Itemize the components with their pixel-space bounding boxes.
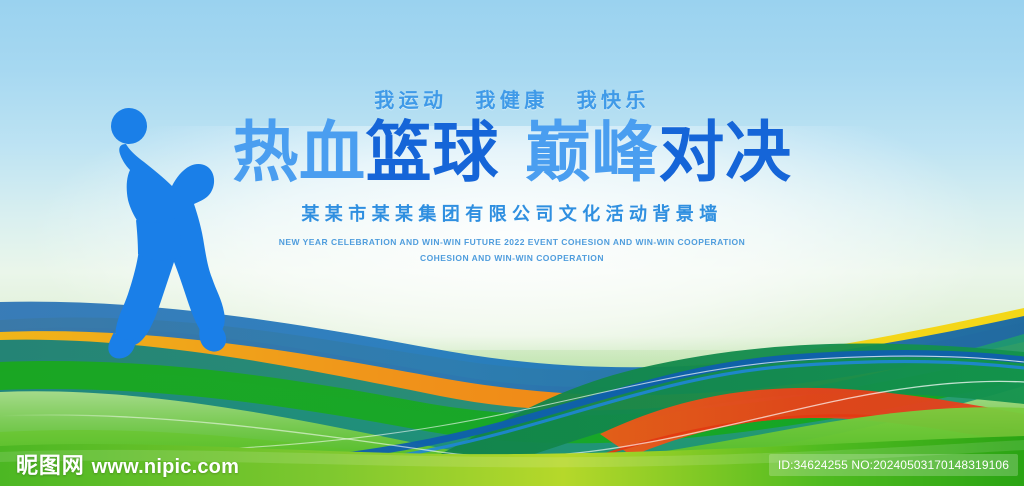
subtitle-chinese: 某某市某某集团有限公司文化活动背景墙 xyxy=(0,200,1024,226)
poster-copy: 我运动我健康我快乐 热血篮球巅峰对决 某某市某某集团有限公司文化活动背景墙 NE… xyxy=(0,84,1024,267)
status-badge: ID:34624255 NO:20240503170148319106 xyxy=(769,454,1018,476)
subtitle-english-line-2: COHESION AND WIN-WIN COOPERATION xyxy=(0,251,1024,267)
tagline-item-1: 我健康 xyxy=(475,90,548,112)
subtitle-english-line-1: NEW YEAR CELEBRATION AND WIN-WIN FUTURE … xyxy=(0,235,1024,251)
page-title: 热血篮球巅峰对决 xyxy=(0,119,1024,186)
poster-banner: 我运动我健康我快乐 热血篮球巅峰对决 某某市某某集团有限公司文化活动背景墙 NE… xyxy=(0,0,1024,486)
subtitle-english: NEW YEAR CELEBRATION AND WIN-WIN FUTURE … xyxy=(0,235,1024,266)
tagline: 我运动我健康我快乐 xyxy=(0,84,1024,113)
headline-part2-dark: 对决 xyxy=(658,115,791,189)
headline-part1-light: 热血 xyxy=(232,115,365,189)
tagline-item-0: 我运动 xyxy=(374,90,447,112)
headline-part1-dark: 篮球 xyxy=(366,115,499,189)
watermark-url: www.nipic.com xyxy=(92,456,239,479)
athlete-foot-right xyxy=(199,326,226,352)
watermark: 昵图网 www.nipic.com xyxy=(16,448,239,480)
tagline-item-2: 我快乐 xyxy=(577,90,650,112)
watermark-brand: 昵图网 xyxy=(16,448,85,480)
headline-part2-light: 巅峰 xyxy=(525,115,658,189)
